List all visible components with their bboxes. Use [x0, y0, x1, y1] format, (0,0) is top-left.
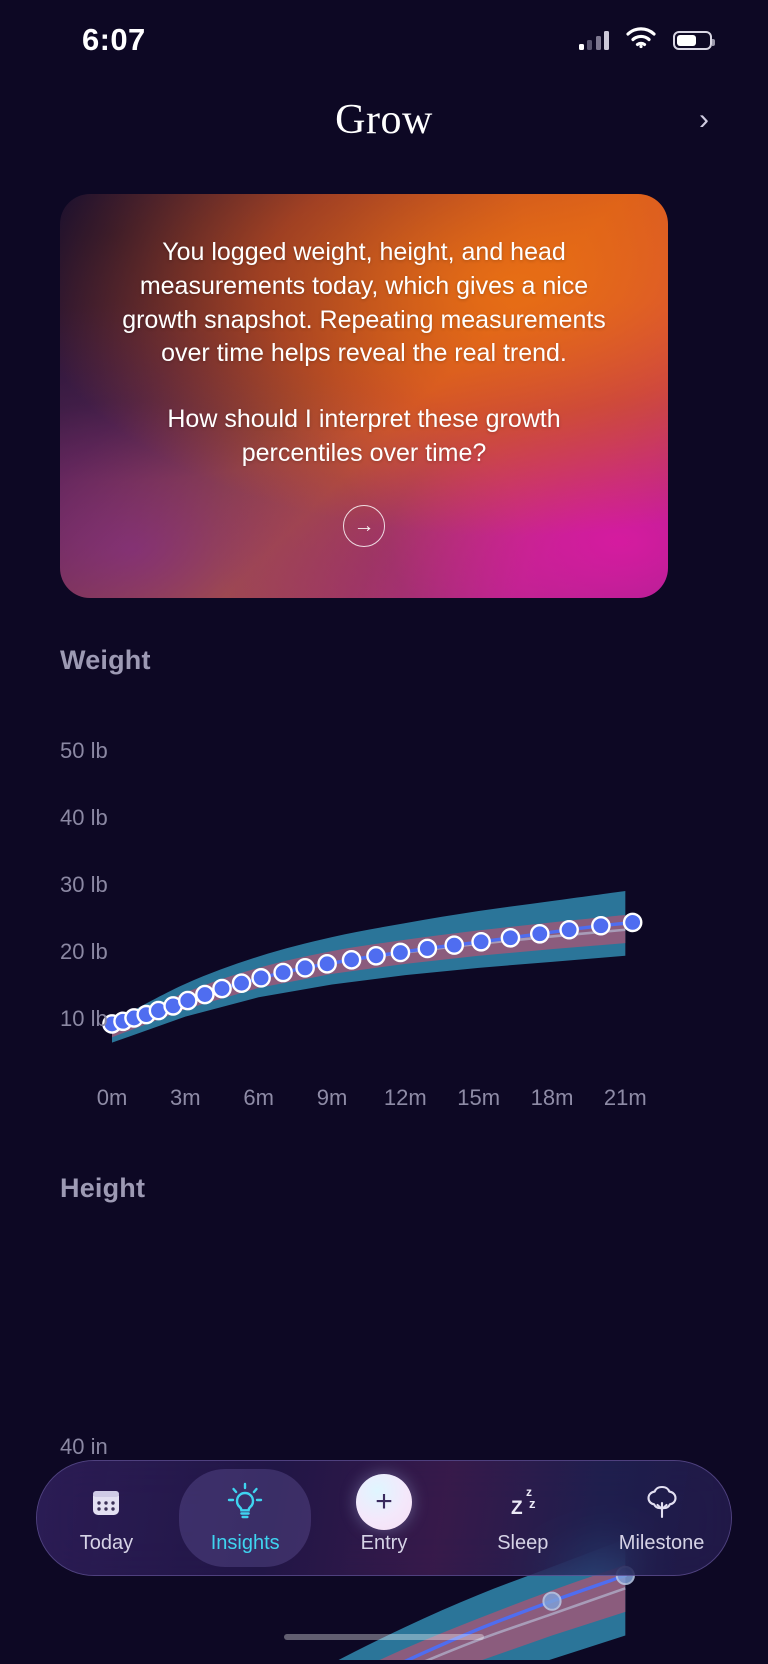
weight-section-title: Weight: [60, 645, 151, 676]
tab-sleep[interactable]: z z Z Sleep: [453, 1461, 592, 1575]
tab-label-milestone: Milestone: [619, 1532, 705, 1555]
tab-insights[interactable]: Insights: [176, 1461, 315, 1575]
arrow-right-circle-icon[interactable]: →: [343, 505, 385, 547]
insight-card-body: You logged weight, height, and head meas…: [114, 236, 614, 371]
app-screen: 6:07 Grow › You logged weight, height, a…: [0, 0, 768, 1664]
battery-icon: [673, 31, 712, 50]
add-entry-button[interactable]: +: [356, 1474, 412, 1530]
tab-label-entry: Entry: [361, 1532, 408, 1555]
x-axis-tick-label: 15m: [457, 1085, 500, 1111]
status-bar: 6:07: [0, 0, 768, 80]
tab-today[interactable]: Today: [37, 1461, 176, 1575]
weight-growth-chart[interactable]: 50 lb40 lb30 lb20 lb10 lb 0m3m6m9m12m15m…: [0, 700, 768, 1140]
height-growth-chart[interactable]: 40 in: [0, 1230, 768, 1660]
plus-icon: +: [356, 1481, 412, 1523]
x-axis-tick-label: 18m: [531, 1085, 574, 1111]
calendar-icon: [88, 1481, 124, 1523]
bottom-tab-bar: Today Insights + Entry: [36, 1460, 732, 1576]
nav-header: Grow ›: [0, 84, 768, 156]
svg-text:Z: Z: [511, 1498, 523, 1519]
height-chart-plot: [0, 1230, 768, 1660]
tab-milestone[interactable]: Milestone: [592, 1461, 731, 1575]
y-axis-tick-label: 40 lb: [60, 805, 108, 831]
sleep-zzz-icon: z z Z: [503, 1481, 543, 1523]
y-axis-tick-label: 50 lb: [60, 738, 108, 764]
insight-card-question: How should I interpret these growth perc…: [164, 403, 564, 471]
wifi-icon: [626, 27, 656, 54]
x-axis-tick-label: 3m: [170, 1085, 201, 1111]
page-title: Grow: [335, 96, 433, 144]
x-axis-tick-label: 12m: [384, 1085, 427, 1111]
lightbulb-icon: [226, 1481, 264, 1523]
y-axis-tick-label: 40 in: [60, 1434, 108, 1460]
status-bar-clock: 6:07: [82, 22, 146, 58]
home-indicator: [284, 1634, 484, 1640]
x-axis-tick-label: 6m: [243, 1085, 274, 1111]
cellular-signal-icon: [579, 31, 610, 50]
insight-card[interactable]: You logged weight, height, and head meas…: [60, 194, 668, 598]
weight-chart-plot: [0, 700, 768, 1140]
svg-text:z: z: [529, 1496, 536, 1511]
x-axis-tick-label: 0m: [97, 1085, 128, 1111]
status-bar-icons: [579, 27, 713, 54]
tab-label-today: Today: [80, 1532, 133, 1555]
y-axis-tick-label: 30 lb: [60, 872, 108, 898]
tab-label-sleep: Sleep: [497, 1532, 548, 1555]
chevron-right-icon[interactable]: ›: [686, 102, 722, 138]
y-axis-tick-label: 10 lb: [60, 1006, 108, 1032]
height-section-title: Height: [60, 1173, 145, 1204]
tab-label-insights: Insights: [211, 1532, 280, 1555]
tree-icon: [642, 1481, 682, 1523]
x-axis-tick-label: 9m: [317, 1085, 348, 1111]
tab-entry[interactable]: + Entry: [315, 1461, 454, 1575]
y-axis-tick-label: 20 lb: [60, 939, 108, 965]
x-axis-tick-label: 21m: [604, 1085, 647, 1111]
